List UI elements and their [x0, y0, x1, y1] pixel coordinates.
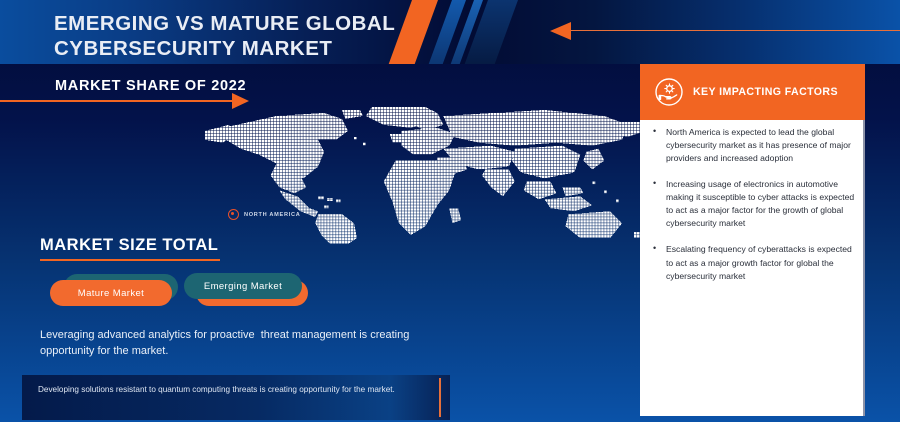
list-item: North America is expected to lead the gl…	[640, 126, 865, 165]
arrow-left-icon	[550, 22, 571, 40]
market-size-title: MARKET SIZE TOTAL	[40, 236, 218, 255]
location-ring-icon	[228, 209, 239, 220]
bottom-callout-text: Developing solutions resistant to quantu…	[38, 384, 428, 396]
body-paragraph: Leveraging advanced analytics for proact…	[40, 328, 460, 360]
key-impacting-factors-panel: KEY IMPACTING FACTORS North America is e…	[640, 64, 865, 416]
bottom-callout-bar: Developing solutions resistant to quantu…	[22, 375, 450, 420]
legend-pill-emerging-label: Emerging Market	[184, 273, 302, 299]
map-marker-label: NORTH AMERICA	[244, 212, 300, 218]
top-arrow-line	[570, 30, 900, 31]
bottom-accent-line	[439, 378, 441, 417]
legend-pill-emerging-market[interactable]: Emerging Market	[184, 272, 314, 308]
header-banner: EMERGING VS MATURE GLOBAL CYBERSECURITY …	[0, 0, 900, 64]
page-title: EMERGING VS MATURE GLOBAL CYBERSECURITY …	[54, 11, 454, 62]
key-factors-header: KEY IMPACTING FACTORS	[640, 64, 865, 120]
hand-holding-gear-icon	[654, 77, 684, 107]
market-share-arrow-line	[0, 100, 234, 102]
list-item: Increasing usage of electronics in autom…	[640, 178, 865, 230]
list-item: Escalating frequency of cyberattacks is …	[640, 243, 865, 282]
legend-pill-mature-market[interactable]: Mature Market	[50, 274, 180, 308]
world-map-dotted	[186, 104, 656, 244]
legend-pill-mature-label: Mature Market	[50, 280, 172, 306]
key-factors-list: North America is expected to lead the gl…	[640, 126, 865, 296]
market-share-label: MARKET SHARE OF 2022	[55, 78, 246, 94]
infographic-slide: EMERGING VS MATURE GLOBAL CYBERSECURITY …	[0, 0, 900, 422]
market-size-underline	[40, 259, 220, 261]
key-factors-title: KEY IMPACTING FACTORS	[693, 86, 838, 98]
